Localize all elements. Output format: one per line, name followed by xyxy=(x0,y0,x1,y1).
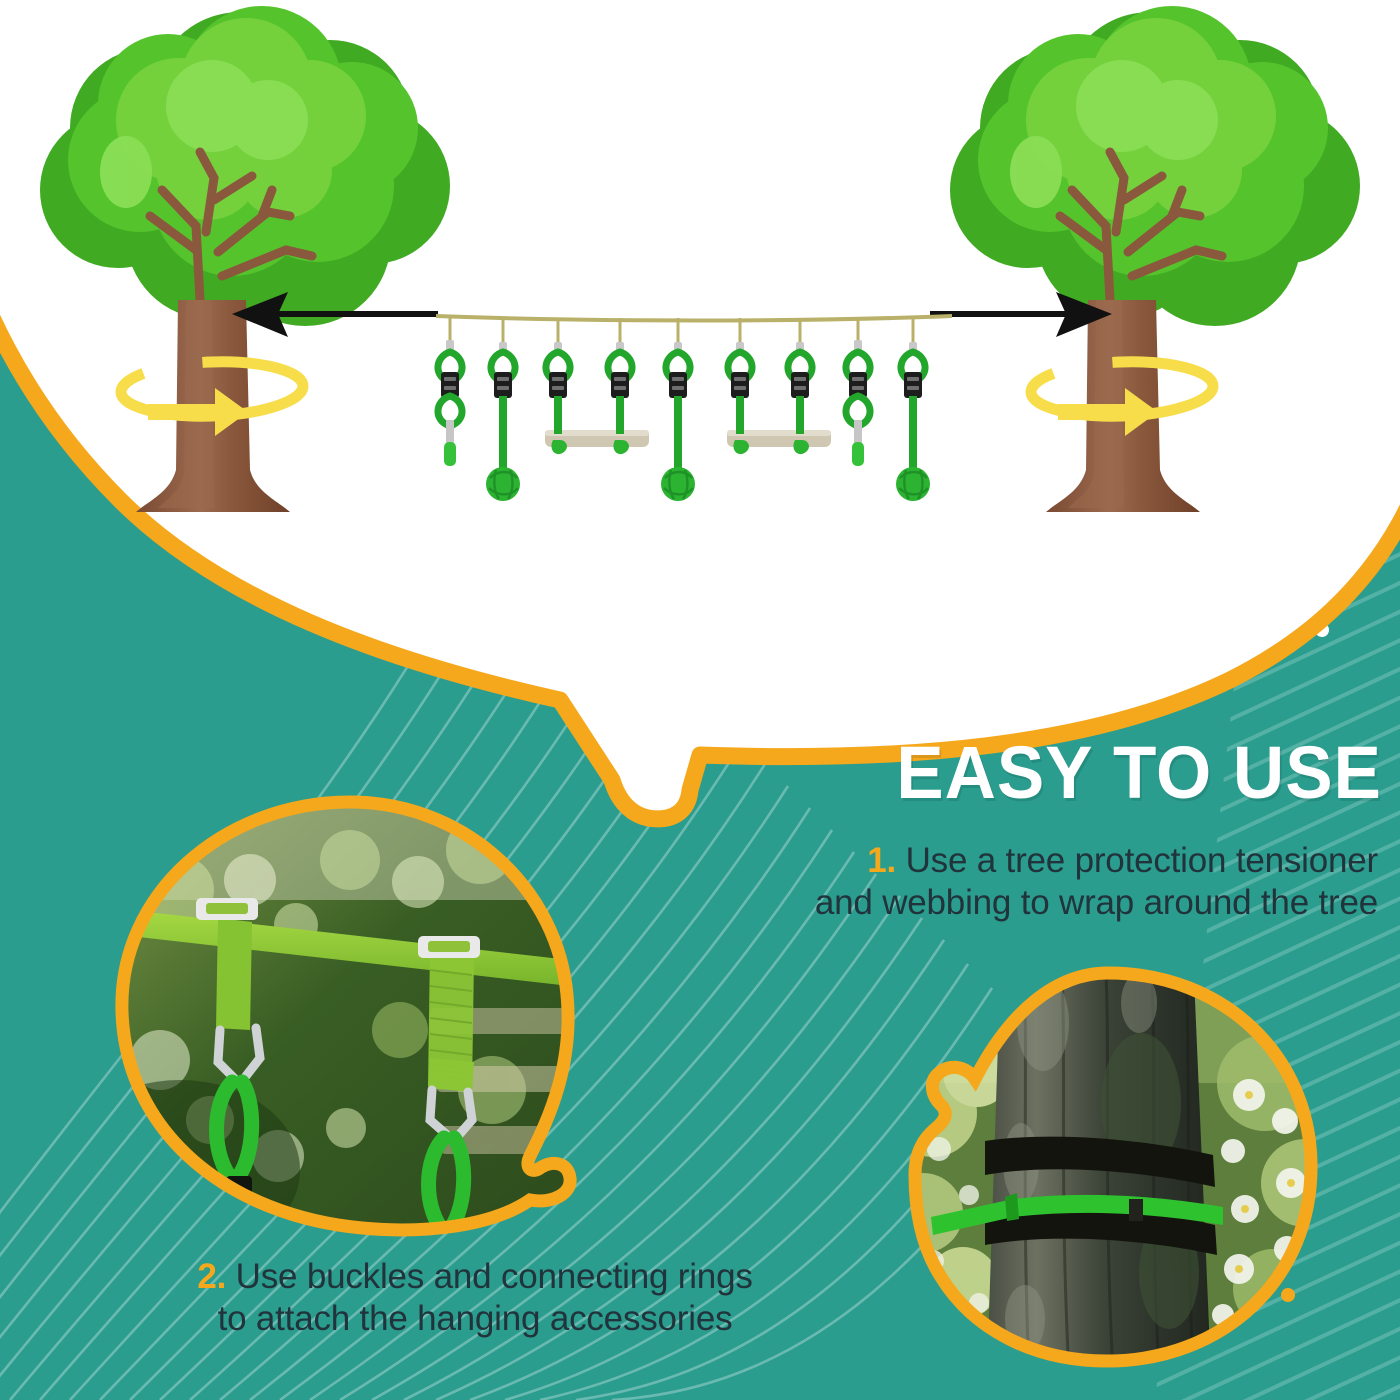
photo-buckles-and-rings xyxy=(100,790,600,1240)
page-title: EASY TO USE xyxy=(896,736,1382,810)
step-1-line-2: and webbing to wrap around the tree xyxy=(618,882,1378,924)
slackline-assembly xyxy=(436,316,952,501)
step-2-text: 2. Use buckles and connecting rings to a… xyxy=(60,1256,890,1340)
hanger-knotball-3 xyxy=(896,318,930,501)
hanger-knotball-1 xyxy=(486,318,520,501)
hanger-knotball-2 xyxy=(661,318,695,501)
metal-buckle-right xyxy=(418,936,480,958)
step-1-text: 1. Use a tree protection tensioner and w… xyxy=(618,840,1378,924)
step-2-line-2: to attach the hanging accessories xyxy=(60,1298,890,1340)
slackline-cable xyxy=(436,316,952,321)
infographic-canvas: EASY TO USE 1. Use a tree protection ten… xyxy=(0,0,1400,1400)
hanger-ring-2 xyxy=(846,318,870,466)
tree-right xyxy=(930,6,1360,512)
step-2-number: 2. xyxy=(197,1257,226,1296)
metal-buckle-left xyxy=(196,898,258,920)
hanger-ring-1 xyxy=(438,318,462,466)
tree-left xyxy=(40,6,450,512)
step-1-number: 1. xyxy=(867,841,896,880)
step-2-line-1: Use buckles and connecting rings xyxy=(236,1257,753,1296)
step-1-line-1: Use a tree protection tensioner xyxy=(906,841,1378,880)
accent-dot xyxy=(1281,1288,1295,1302)
photo-tree-protector xyxy=(893,963,1323,1373)
hero-illustration xyxy=(0,0,1400,560)
